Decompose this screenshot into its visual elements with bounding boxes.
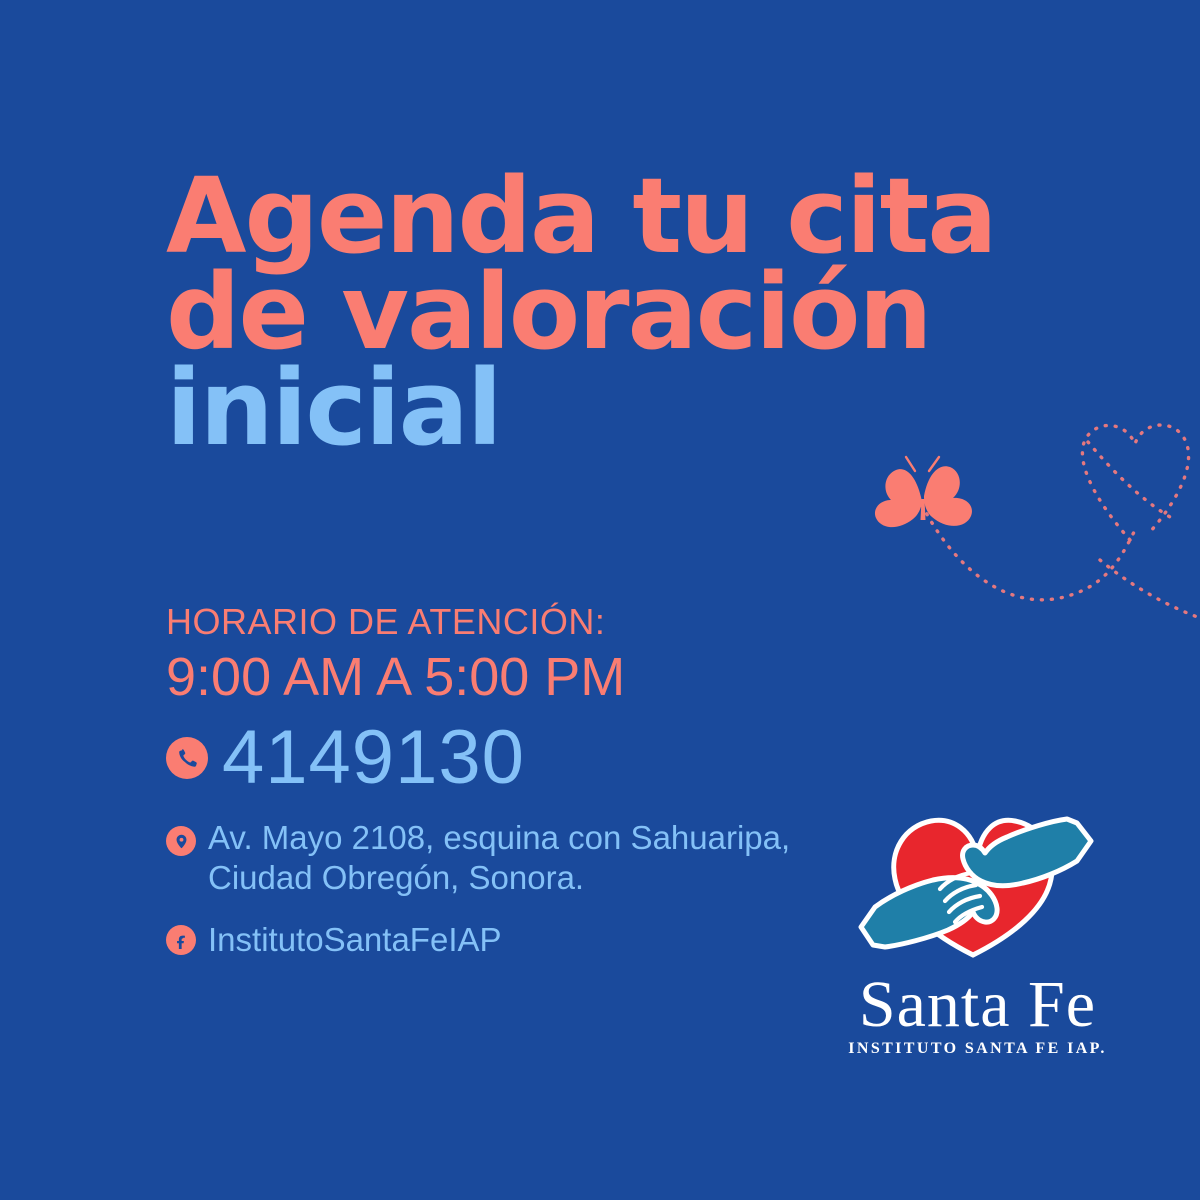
logo-tagline: INSTITUTO SANTA FE IAP. [845,1040,1110,1058]
address-row[interactable]: Av. Mayo 2108, esquina con Sahuaripa, Ci… [166,818,886,898]
address-text: Av. Mayo 2108, esquina con Sahuaripa, Ci… [208,818,790,898]
santa-fe-logo: Santa Fe INSTITUTO SANTA FE IAP. [845,795,1110,1058]
butterfly-icon [875,457,972,527]
headline-line-2: de valoración [166,264,1066,360]
logo-wordmark: Santa Fe [845,972,1110,1038]
phone-row[interactable]: 4149130 [166,720,886,796]
facebook-row[interactable]: InstitutoSantaFeIAP [166,920,886,960]
headline-line-1: Agenda tu cita [166,168,1066,264]
address-line-1: Av. Mayo 2108, esquina con Sahuaripa, [208,819,790,856]
schedule-label: HORARIO DE ATENCIÓN: [166,600,886,644]
facebook-icon [166,925,196,955]
headline-block: Agenda tu cita de valoración inicial [166,168,1066,456]
heart-hands-logo-icon [845,795,1110,970]
poster-canvas: Agenda tu cita de valoración inicial HOR… [0,0,1200,1200]
schedule-hours: 9:00 AM A 5:00 PM [166,646,886,708]
headline-line-3: inicial [166,360,1066,456]
contact-block: HORARIO DE ATENCIÓN: 9:00 AM A 5:00 PM 4… [166,600,886,960]
address-line-2: Ciudad Obregón, Sonora. [208,859,584,896]
phone-number: 4149130 [222,720,525,796]
facebook-handle: InstitutoSantaFeIAP [208,920,502,960]
location-pin-icon [166,826,196,856]
phone-icon [166,737,208,779]
